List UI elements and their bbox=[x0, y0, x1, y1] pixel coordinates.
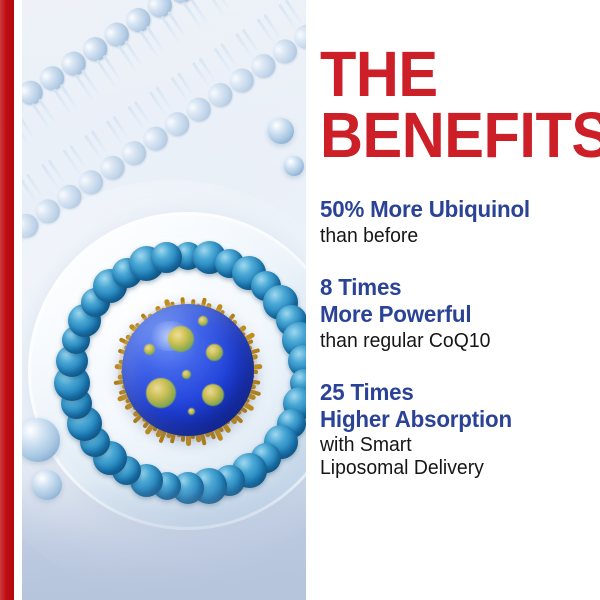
benefit-title-line: 25 Times bbox=[320, 379, 584, 406]
benefit-title-line: More Powerful bbox=[320, 301, 584, 328]
core-payload-droplet bbox=[168, 326, 194, 352]
core-payload-droplet bbox=[202, 384, 224, 406]
floating-sphere bbox=[284, 156, 304, 176]
benefit-subtitle-line: than regular CoQ10 bbox=[320, 330, 590, 353]
left-red-stripe bbox=[0, 0, 14, 600]
benefit-subtitle: than regular CoQ10 bbox=[320, 330, 590, 353]
panel-bottom-haze bbox=[22, 480, 306, 600]
benefit-subtitle-line: Liposomal Delivery bbox=[320, 457, 590, 480]
core-payload-droplet bbox=[182, 370, 191, 379]
benefit-title: 8 TimesMore Powerful bbox=[320, 274, 584, 328]
benefits-text-column: THEBENEFITS 50% More Ubiquinolthan befor… bbox=[318, 0, 600, 600]
benefit-item-more-powerful: 8 TimesMore Powerfulthan regular CoQ10 bbox=[320, 274, 598, 353]
liposome-core bbox=[122, 304, 254, 436]
core-payload-droplet bbox=[188, 408, 195, 415]
benefit-subtitle-line: with Smart bbox=[320, 434, 590, 457]
benefit-title-line: 8 Times bbox=[320, 274, 584, 301]
headline-line: THE bbox=[320, 44, 600, 105]
benefit-title: 25 TimesHigher Absorption bbox=[320, 379, 584, 433]
benefit-subtitle: with SmartLiposomal Delivery bbox=[320, 434, 590, 480]
liposome-graphic bbox=[56, 240, 306, 504]
benefit-subtitle: than before bbox=[320, 225, 590, 248]
benefit-title-line: 50% More Ubiquinol bbox=[320, 196, 584, 223]
core-payload-droplet bbox=[198, 316, 208, 326]
core-payload-droplet bbox=[146, 378, 176, 408]
lipid-head-sphere bbox=[151, 242, 182, 273]
benefit-item-more-ubiquinol: 50% More Ubiquinolthan before bbox=[320, 196, 598, 248]
benefits-list: 50% More Ubiquinolthan before8 TimesMore… bbox=[320, 196, 598, 481]
headline-line: BENEFITS bbox=[320, 105, 600, 166]
benefit-title-line: Higher Absorption bbox=[320, 406, 584, 433]
core-payload-droplet bbox=[144, 344, 155, 355]
page-title: THEBENEFITS bbox=[320, 44, 600, 167]
benefits-poster: THEBENEFITS 50% More Ubiquinolthan befor… bbox=[0, 0, 600, 600]
benefit-title: 50% More Ubiquinol bbox=[320, 196, 584, 223]
core-payload-droplet bbox=[206, 344, 223, 361]
benefit-item-higher-absorption: 25 TimesHigher Absorptionwith SmartLipos… bbox=[320, 379, 598, 481]
benefit-subtitle-line: than before bbox=[320, 225, 590, 248]
stripe-gloss bbox=[0, 0, 14, 600]
floating-sphere bbox=[268, 118, 294, 144]
liposome-illustration-panel bbox=[22, 0, 306, 600]
